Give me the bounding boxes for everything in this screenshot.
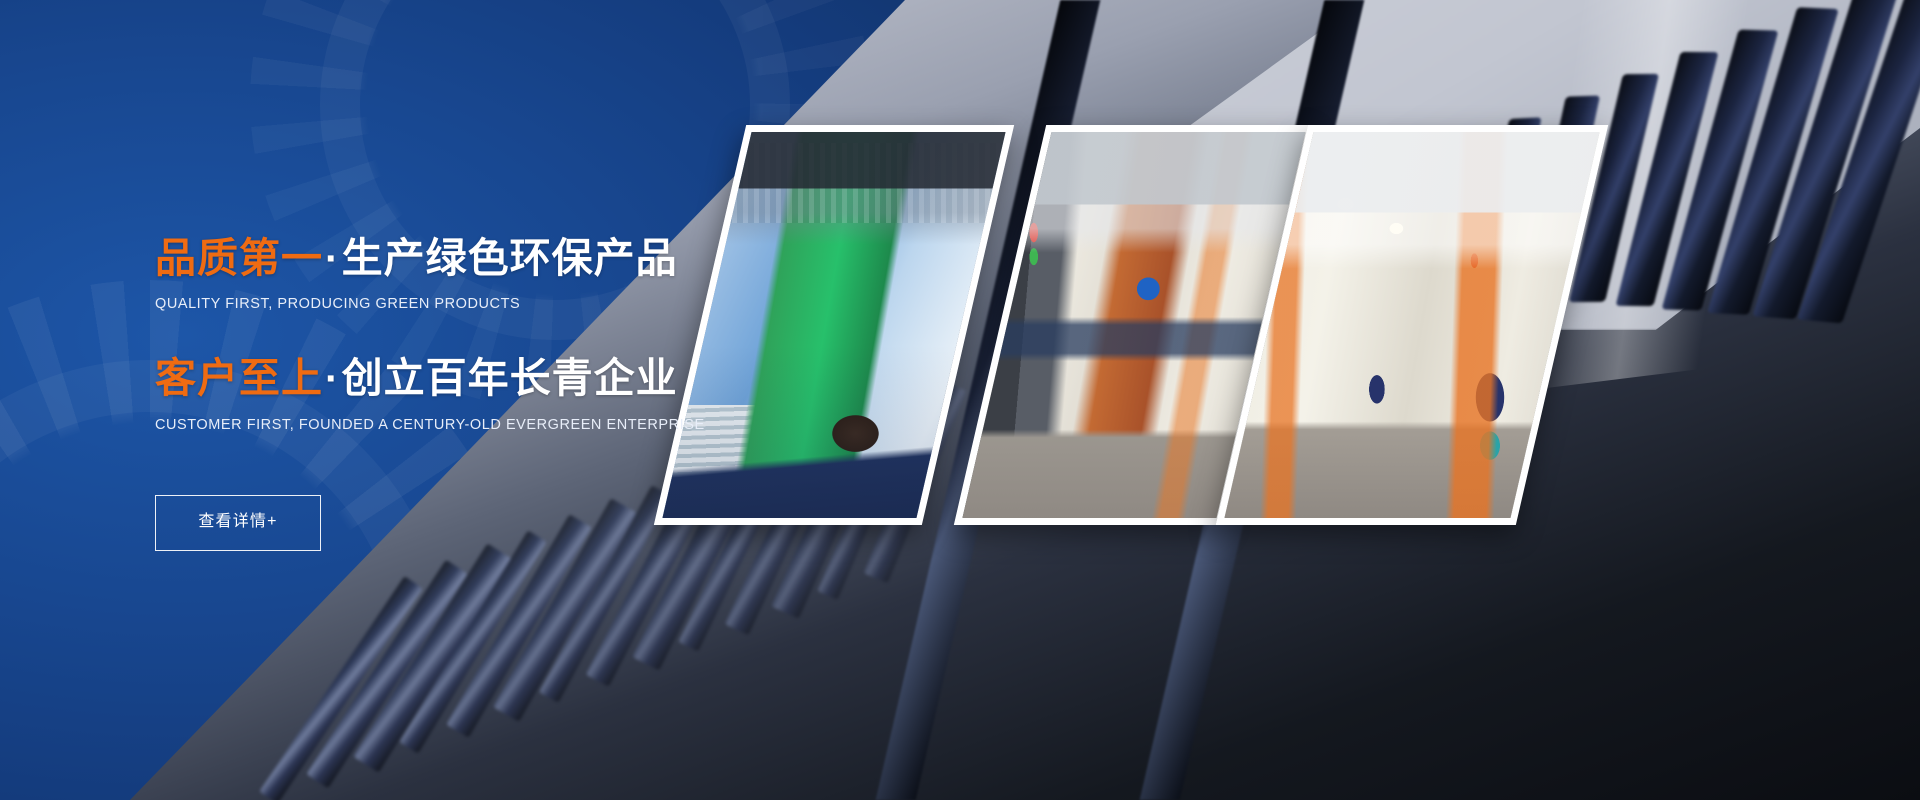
view-details-button[interactable]: 查看详情+: [155, 495, 321, 551]
subline-primary: QUALITY FIRST, PRODUCING GREEN PRODUCTS: [155, 296, 815, 312]
hero-banner: 品质第一·生产绿色环保产品 QUALITY FIRST, PRODUCING G…: [0, 0, 1920, 800]
headline-primary-rest: 生产绿色环保产品: [342, 235, 678, 281]
subline-secondary: CUSTOMER FIRST, FOUNDED A CENTURY-OLD EV…: [155, 417, 815, 433]
headline-secondary: 客户至上·创立百年长青企业: [155, 352, 815, 404]
headline-secondary-separator: ·: [323, 355, 342, 401]
headline-primary-separator: ·: [323, 235, 342, 281]
headline-primary-highlight: 品质第一: [155, 235, 323, 281]
hero-copy: 品质第一·生产绿色环保产品 QUALITY FIRST, PRODUCING G…: [155, 232, 815, 551]
headline-primary: 品质第一·生产绿色环保产品: [155, 232, 815, 284]
headline-secondary-rest: 创立百年长青企业: [342, 355, 678, 401]
headline-secondary-highlight: 客户至上: [155, 355, 323, 401]
copy-spacer: [155, 312, 815, 352]
